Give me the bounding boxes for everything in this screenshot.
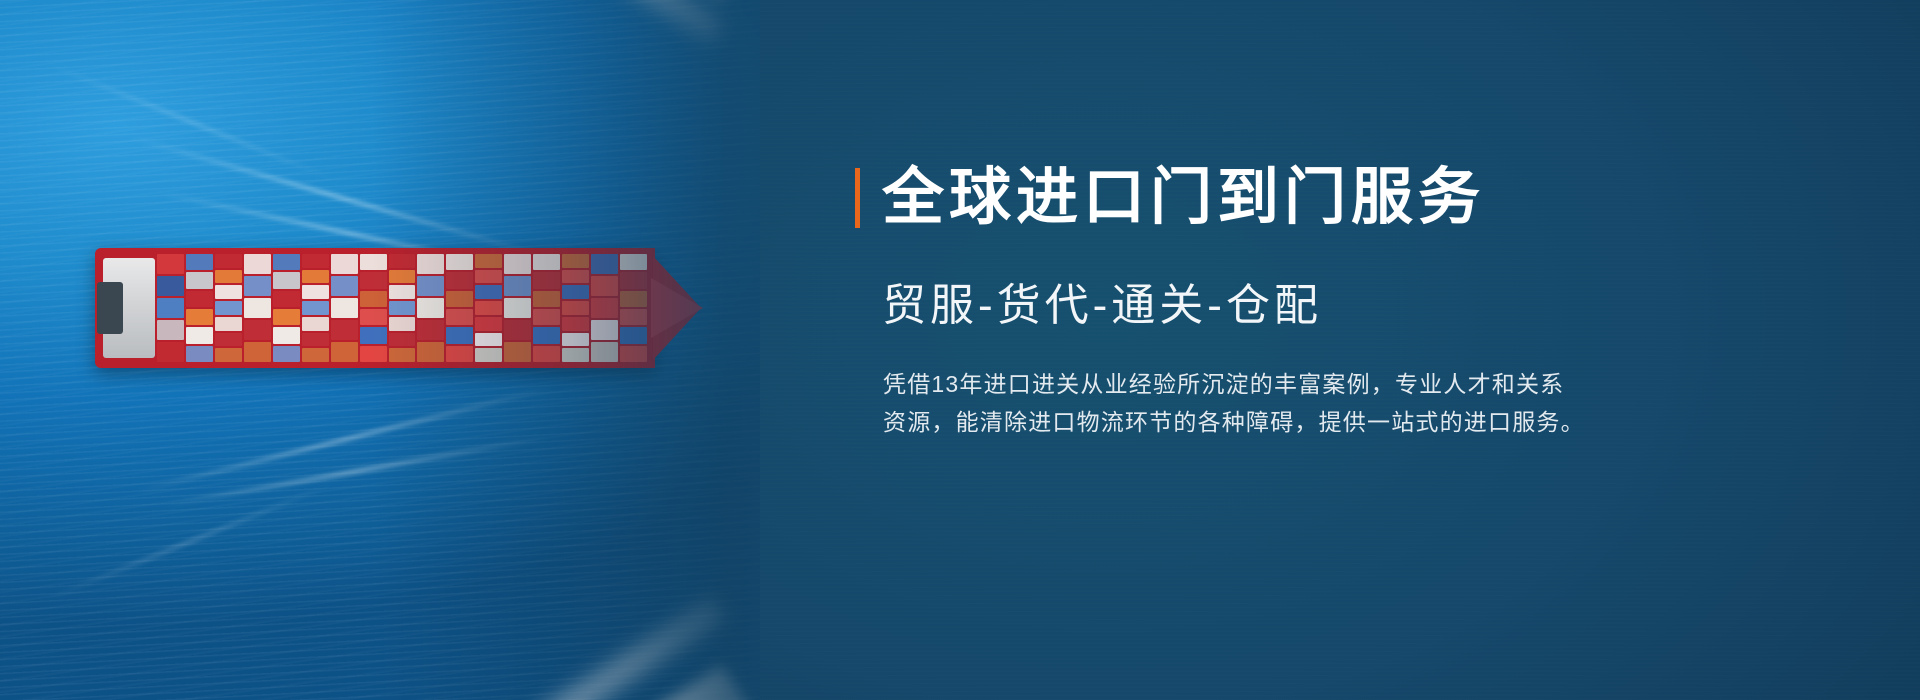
hero-banner: 全球进口门到门服务 贸服-货代-通关-仓配 凭借13年进口进关从业经验所沉淀的丰… [0,0,1920,700]
body-line: 凭借13年进口进关从业经验所沉淀的丰富案例，专业人才和关系 [883,366,1643,404]
body-line: 资源，能清除进口物流环节的各种障碍，提供一站式的进口服务。 [883,404,1643,442]
page-title: 全球进口门到门服务 [882,167,1485,229]
accent-bar [855,168,860,228]
headline-row: 全球进口门到门服务 [855,160,1795,236]
subtitle: 贸服-货代-通关-仓配 [882,284,1795,328]
body-copy: 凭借13年进口进关从业经验所沉淀的丰富案例，专业人才和关系 资源，能清除进口物流… [883,366,1643,442]
banner-content: 全球进口门到门服务 贸服-货代-通关-仓配 凭借13年进口进关从业经验所沉淀的丰… [855,160,1795,442]
